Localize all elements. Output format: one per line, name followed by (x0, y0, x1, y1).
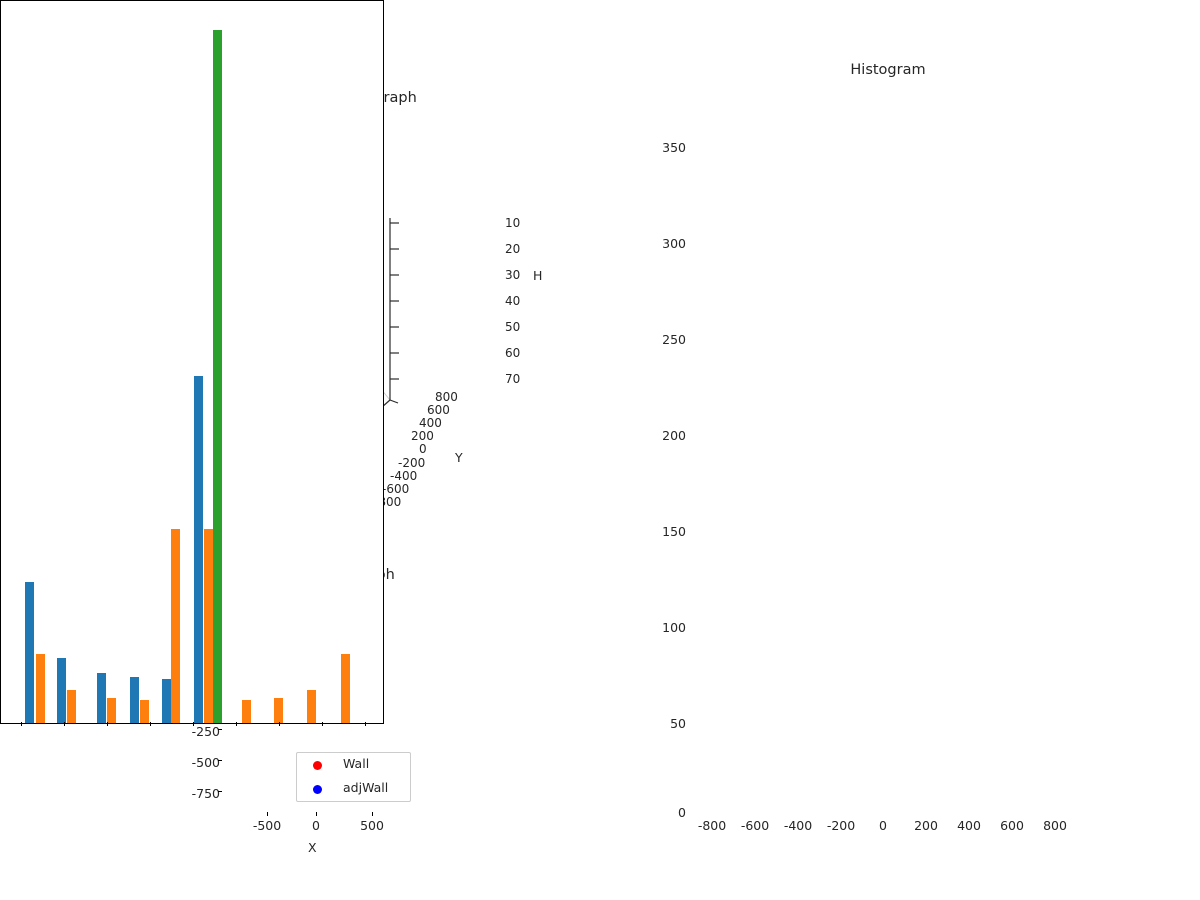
histogram-bar (25, 582, 34, 723)
hist-xtick-400: 400 (949, 818, 989, 833)
figure-canvas: 3D Coordinate Graph (0, 0, 1200, 900)
legend-entry-adjwall[interactable]: adjWall (297, 777, 410, 802)
legend-entry-wall[interactable]: Wall (297, 753, 410, 778)
histogram-bar (307, 690, 316, 723)
plot3d-ztick-2: 30 (505, 268, 520, 282)
plot3d-ztick-6: 70 (505, 372, 520, 386)
hist-xtick-600: 600 (992, 818, 1032, 833)
hist-x-tickmark (150, 722, 151, 726)
plot3d-ztick-5: 60 (505, 346, 520, 360)
plot3d-zlabel: H (533, 268, 542, 283)
histogram-bar (194, 376, 203, 723)
hist-x-tickmark (236, 722, 237, 726)
plot2d-xtick-0: 0 (306, 818, 326, 833)
plot3d-ytick-6: 400 (419, 416, 442, 430)
hist-x-tickmark (21, 722, 22, 726)
histogram-bar (107, 698, 116, 723)
hist-ytick-200: 200 (646, 428, 686, 443)
histogram-title: Histogram (696, 62, 1080, 78)
histogram-bar (341, 654, 350, 723)
plot3d-ytick-3: -200 (398, 456, 425, 470)
plot3d-ztick-0: 10 (505, 216, 520, 230)
histogram-bar (130, 677, 139, 723)
histogram-bar (140, 700, 149, 723)
plot2d-xlabel: X (308, 840, 317, 855)
histogram-bar (162, 679, 171, 723)
hist-xtick-0: 0 (868, 818, 898, 833)
histogram-bar (171, 529, 180, 723)
hist-ytick-150: 150 (646, 524, 686, 539)
plot3d-ztick-1: 20 (505, 242, 520, 256)
hist-ytick-50: 50 (646, 716, 686, 731)
plot2d-ytick-m500: -500 (182, 755, 220, 770)
histogram-bar (274, 698, 283, 723)
hist-x-tickmark (279, 722, 280, 726)
plot-2d-legend[interactable]: Wall adjWall (296, 752, 411, 802)
plot2d-ytick-m250: -250 (182, 724, 220, 739)
histogram-bar (242, 700, 251, 723)
hist-x-tickmark (107, 722, 108, 726)
hist-xtick-m400: -400 (776, 818, 820, 833)
plot3d-ytick-7: 600 (427, 403, 450, 417)
hist-x-tickmark (193, 722, 194, 726)
hist-xtick-m600: -600 (733, 818, 777, 833)
histogram-bar (97, 673, 106, 723)
plot2d-ytick-m750: -750 (182, 786, 220, 801)
legend-label-adjwall: adjWall (343, 780, 388, 795)
hist-x-tickmark (322, 722, 323, 726)
hist-xtick-m800: -800 (690, 818, 734, 833)
plot2d-xtick-500: 500 (354, 818, 390, 833)
histogram-bar (204, 529, 213, 723)
hist-xtick-200: 200 (906, 818, 946, 833)
hist-ytick-350: 350 (646, 140, 686, 155)
plot3d-ylabel: Y (455, 450, 463, 465)
hist-x-tickmark (365, 722, 366, 726)
hist-ytick-300: 300 (646, 236, 686, 251)
plot3d-ytick-5: 200 (411, 429, 434, 443)
histogram-bar (67, 690, 76, 723)
plot3d-ytick-8: 800 (435, 390, 458, 404)
plot3d-ytick-4: 0 (419, 442, 427, 456)
plot3d-ztick-3: 40 (505, 294, 520, 308)
legend-label-wall: Wall (343, 756, 369, 771)
plot2d-xtick-m500: -500 (247, 818, 287, 833)
hist-ytick-250: 250 (646, 332, 686, 347)
plot3d-ytick-1: -600 (382, 482, 409, 496)
hist-ytick-100: 100 (646, 620, 686, 635)
hist-xtick-800: 800 (1035, 818, 1075, 833)
histogram-bar (36, 654, 45, 723)
histogram-bar (57, 658, 66, 723)
wall-legend-marker-icon (313, 761, 322, 770)
plot3d-ztick-4: 50 (505, 320, 520, 334)
histogram-plot-area (0, 0, 384, 724)
hist-xtick-m200: -200 (819, 818, 863, 833)
adjwall-legend-marker-icon (313, 785, 322, 794)
hist-ytick-0: 0 (646, 805, 686, 820)
histogram-bar (213, 30, 222, 723)
hist-x-tickmark (64, 722, 65, 726)
plot3d-ytick-2: -400 (390, 469, 417, 483)
